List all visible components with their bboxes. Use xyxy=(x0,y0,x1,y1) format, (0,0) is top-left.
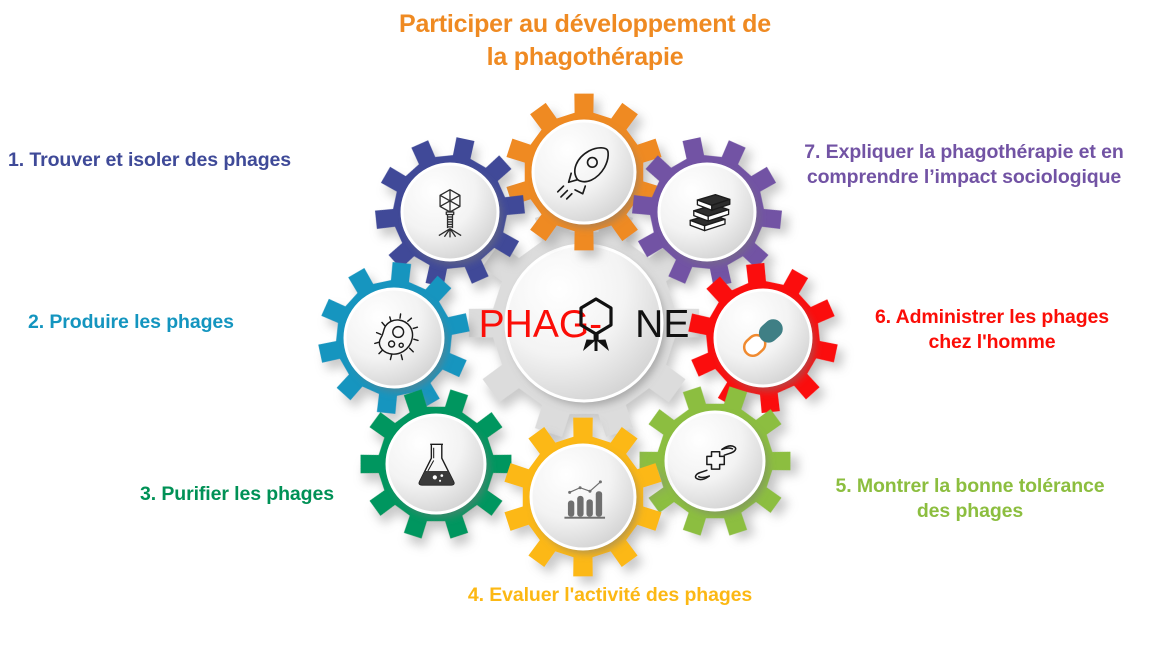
step-label-2: 2. Produire les phages xyxy=(28,310,293,335)
page-title-line-1: Participer au développement de xyxy=(330,8,840,41)
gear-step-4 xyxy=(481,395,685,599)
step-label-5: 5. Montrer la bonne tolérance des phages xyxy=(790,474,1150,525)
diagram-canvas: Participer au développement de la phagot… xyxy=(0,0,1168,648)
step-label-7: 7. Expliquer la phagothérapie et en comp… xyxy=(762,140,1166,191)
step-label-6: 6. Administrer les phages chez l'homme xyxy=(832,305,1152,356)
step-label-1: 1. Trouver et isoler des phages xyxy=(8,148,358,173)
page-title-line-2: la phagothérapie xyxy=(330,41,840,74)
page-title: Participer au développement de la phagot… xyxy=(330,8,840,74)
